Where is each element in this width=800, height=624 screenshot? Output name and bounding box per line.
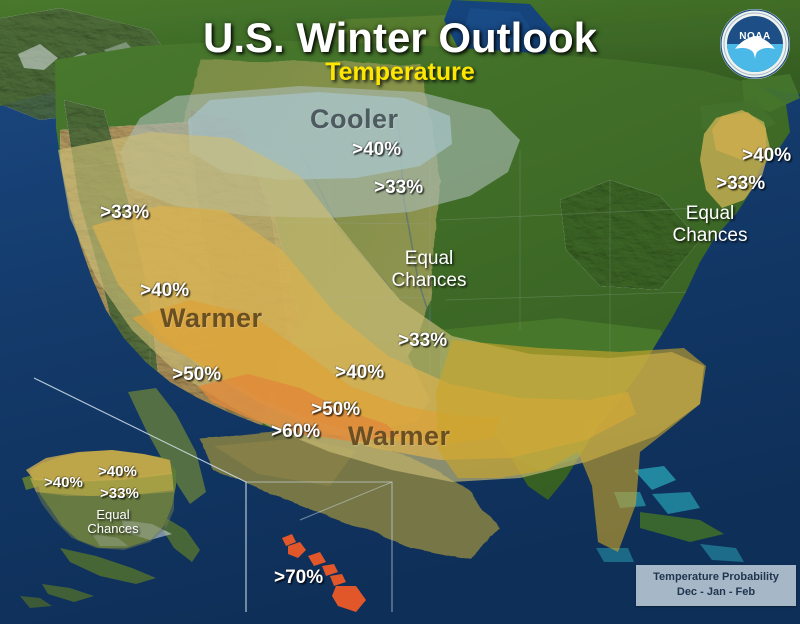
equal-chances-line-1: Equal	[87, 508, 138, 522]
caption-box: Temperature Probability Dec - Jan - Feb	[636, 565, 796, 606]
probability-label-west-33: >33%	[100, 203, 149, 222]
probability-label-cooler-40: >40%	[352, 140, 401, 159]
noaa-logo-text: NOAA	[739, 31, 770, 42]
equal-chances-line-2: Chances	[673, 225, 748, 247]
probability-label-maine-40: >40%	[742, 146, 791, 165]
probability-label-ak-40-north: >40%	[98, 464, 137, 479]
winter-outlook-map: U.S. Winter Outlook Temperature NOAA Coo…	[0, 0, 800, 624]
probability-label-maine-33: >33%	[716, 174, 765, 193]
page-title: U.S. Winter Outlook	[0, 14, 800, 62]
probability-label-west-40: >40%	[140, 281, 189, 300]
probability-label-south-33: >33%	[398, 331, 447, 350]
cooler-band: Cooler	[310, 106, 399, 133]
probability-label-south-40: >40%	[335, 363, 384, 382]
warmer-south: Warmer	[348, 423, 451, 450]
equal-chances-line-2: Chances	[87, 522, 138, 536]
caption-line-2: Dec - Jan - Feb	[640, 585, 792, 600]
page-subtitle: Temperature	[0, 58, 800, 87]
probability-label-ak-33: >33%	[100, 486, 139, 501]
equal-chances-label-ec-central: EqualChances	[392, 248, 467, 292]
probability-label-hawaii-70: >70%	[274, 568, 323, 587]
noaa-seal-icon: NOAA	[719, 8, 791, 80]
equal-chances-line-1: Equal	[673, 203, 748, 225]
probability-label-sw-60: >60%	[271, 422, 320, 441]
equal-chances-label-ec-alaska: EqualChances	[87, 508, 138, 537]
probability-label-south-50: >50%	[311, 400, 360, 419]
equal-chances-line-1: Equal	[392, 248, 467, 270]
equal-chances-label-ec-northeast: EqualChances	[673, 203, 748, 247]
warmer-west: Warmer	[160, 305, 263, 332]
probability-label-cooler-33: >33%	[374, 178, 423, 197]
probability-label-ak-40-west: >40%	[44, 475, 83, 490]
equal-chances-line-2: Chances	[392, 270, 467, 292]
probability-label-west-50: >50%	[172, 365, 221, 384]
caption-line-1: Temperature Probability	[640, 570, 792, 585]
